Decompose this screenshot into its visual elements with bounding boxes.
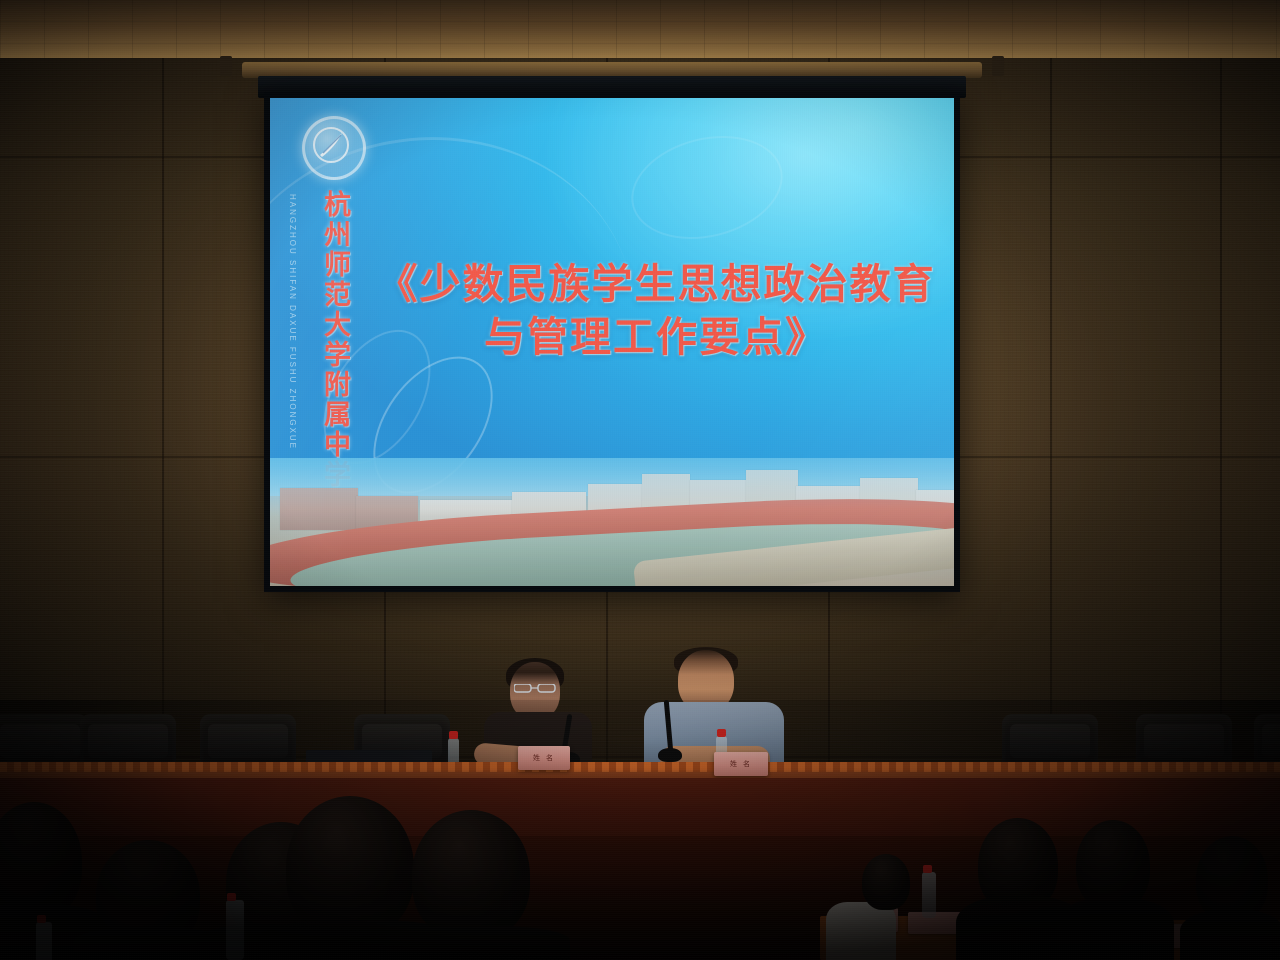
audience-body xyxy=(1180,910,1280,960)
water-bottle xyxy=(226,900,244,960)
audience-head xyxy=(286,796,414,938)
presentation-slide: HANGZHOU SHIFAN DAXUE FUSHU ZHONGXUE 杭州师… xyxy=(270,98,954,586)
school-emblem-icon xyxy=(302,116,366,180)
campus-photo-strip xyxy=(270,458,954,586)
audience-head xyxy=(1076,820,1150,910)
roller-cap-right xyxy=(992,56,1004,76)
slide-title-line-1: 《少数民族学生思想政治教育 xyxy=(366,258,946,311)
audience-body xyxy=(1056,898,1174,960)
audience-foreground: 林丽华 xyxy=(0,778,1280,960)
speaker-right-placard: 姓 名 xyxy=(714,752,768,776)
audience-head xyxy=(862,854,910,910)
projection-screen: HANGZHOU SHIFAN DAXUE FUSHU ZHONGXUE 杭州师… xyxy=(258,62,966,598)
school-name-vertical: 杭州师范大学附属中学 xyxy=(306,190,352,490)
glasses-icon xyxy=(514,684,556,693)
roller-cap-left xyxy=(220,56,232,76)
speaker-left-placard: 姓 名 xyxy=(518,746,570,770)
slide-title-line-2: 与管理工作要点》 xyxy=(366,311,946,364)
campus-photo-haze xyxy=(270,458,954,586)
audience-body xyxy=(386,926,570,960)
water-bottle xyxy=(36,922,52,960)
audience-head xyxy=(412,810,530,940)
photo-scene: HANGZHOU SHIFAN DAXUE FUSHU ZHONGXUE 杭州师… xyxy=(0,0,1280,960)
water-bottle xyxy=(922,872,936,918)
microphone-base xyxy=(658,748,682,762)
ceiling-grid-texture xyxy=(0,0,1280,66)
audience-member-shirt xyxy=(826,902,896,960)
stage-front-panel xyxy=(0,778,1280,836)
slide-title: 《少数民族学生思想政治教育 与管理工作要点》 xyxy=(366,258,946,365)
ceiling-soffit xyxy=(0,0,1280,66)
screen-frame: HANGZHOU SHIFAN DAXUE FUSHU ZHONGXUE 杭州师… xyxy=(264,92,960,592)
school-pinyin-vertical: HANGZHOU SHIFAN DAXUE FUSHU ZHONGXUE xyxy=(288,194,297,450)
